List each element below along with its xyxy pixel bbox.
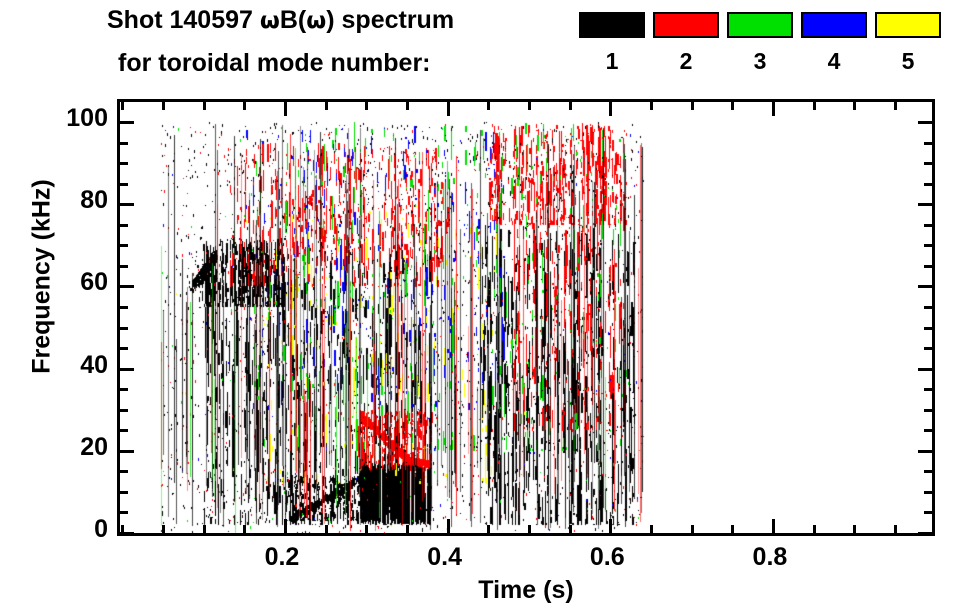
x-tick-top-0.65 <box>650 102 653 110</box>
x-tick-0.6 <box>609 519 612 533</box>
x-tick-0.9 <box>853 525 856 533</box>
x-tick-0 <box>121 525 124 533</box>
x-tick-0.95 <box>894 525 897 533</box>
x-tick-label-0.2: 0.2 <box>237 545 327 570</box>
x-tick-top-0.6 <box>609 102 612 116</box>
y-tick-85 <box>120 183 128 186</box>
x-tick-0.1 <box>203 525 206 533</box>
y-tick-70 <box>120 244 128 247</box>
y-tick-label-60: 60 <box>80 270 108 295</box>
x-tick-top-0.75 <box>731 102 734 110</box>
legend-swatch-1 <box>579 12 645 38</box>
legend-item-2: 2 <box>653 12 719 74</box>
title-b-text: B( <box>280 6 306 34</box>
x-tick-0.7 <box>691 525 694 533</box>
x-tick-top-0.8 <box>772 102 775 116</box>
legend-swatch-2 <box>653 12 719 38</box>
spectrogram-figure: Shot 140597 ωB(ω) spectrum for toroidal … <box>0 0 963 615</box>
x-tick-top-0.85 <box>813 102 816 110</box>
x-tick-0.25 <box>325 525 328 533</box>
y-tick-right-10 <box>924 491 932 494</box>
y-tick-label-0: 0 <box>94 517 108 542</box>
y-tick-right-100 <box>918 121 932 124</box>
y-tick-35 <box>120 388 128 391</box>
x-tick-top-0.7 <box>691 102 694 110</box>
x-tick-0.4 <box>447 519 450 533</box>
y-tick-55 <box>120 306 128 309</box>
y-tick-label-100: 100 <box>66 106 108 131</box>
x-tick-top-0.55 <box>569 102 572 110</box>
legend-label-3: 3 <box>727 48 793 74</box>
omega-symbol-2: ω <box>306 8 326 34</box>
y-tick-right-85 <box>924 183 932 186</box>
y-tick-15 <box>120 470 128 473</box>
x-tick-0.2 <box>284 519 287 533</box>
y-tick-right-35 <box>924 388 932 391</box>
x-tick-top-0.4 <box>447 102 450 116</box>
legend-item-4: 4 <box>801 12 867 74</box>
y-tick-right-40 <box>918 368 932 371</box>
x-tick-top-0.35 <box>406 102 409 110</box>
y-tick-10 <box>120 491 128 494</box>
mode-number-legend: 12345 <box>579 12 939 92</box>
y-tick-right-65 <box>924 265 932 268</box>
x-tick-label-0.4: 0.4 <box>400 545 490 570</box>
y-tick-45 <box>120 347 128 350</box>
x-tick-0.5 <box>528 525 531 533</box>
legend-label-4: 4 <box>801 48 867 74</box>
y-axis-title: Frequency (kHz) <box>28 127 57 427</box>
y-tick-80 <box>120 203 134 206</box>
y-tick-20 <box>120 450 134 453</box>
y-tick-65 <box>120 265 128 268</box>
figure-title-line-2: for toroidal mode number: <box>118 49 431 78</box>
legend-label-2: 2 <box>653 48 719 74</box>
x-tick-0.35 <box>406 525 409 533</box>
x-tick-top-0.5 <box>528 102 531 110</box>
y-tick-right-75 <box>924 224 932 227</box>
y-tick-30 <box>120 409 128 412</box>
y-tick-50 <box>120 327 128 330</box>
title-spectrum-text: ) spectrum <box>326 6 454 34</box>
y-tick-label-80: 80 <box>80 188 108 213</box>
x-tick-0.65 <box>650 525 653 533</box>
x-tick-0.75 <box>731 525 734 533</box>
y-tick-90 <box>120 162 128 165</box>
legend-label-1: 1 <box>579 48 645 74</box>
y-tick-60 <box>120 285 134 288</box>
x-tick-top-0.45 <box>487 102 490 110</box>
y-tick-right-70 <box>924 244 932 247</box>
x-tick-0.85 <box>813 525 816 533</box>
y-tick-right-60 <box>918 285 932 288</box>
figure-title-line-1: Shot 140597 ωB(ω) spectrum <box>107 6 454 35</box>
y-tick-right-45 <box>924 347 932 350</box>
y-tick-5 <box>120 511 128 514</box>
x-tick-0.8 <box>772 519 775 533</box>
y-tick-right-30 <box>924 409 932 412</box>
x-tick-top-0.1 <box>203 102 206 110</box>
legend-swatch-5 <box>875 12 941 38</box>
x-tick-0.55 <box>569 525 572 533</box>
y-tick-right-15 <box>924 470 932 473</box>
x-tick-top-0.9 <box>853 102 856 110</box>
y-tick-label-40: 40 <box>80 353 108 378</box>
x-tick-top-0.3 <box>365 102 368 110</box>
y-tick-right-95 <box>924 142 932 145</box>
x-tick-label-0.6: 0.6 <box>562 545 652 570</box>
y-tick-40 <box>120 368 134 371</box>
y-tick-right-80 <box>918 203 932 206</box>
title-shot-text: Shot 140597 <box>107 6 260 34</box>
legend-item-3: 3 <box>727 12 793 74</box>
y-tick-75 <box>120 224 128 227</box>
legend-swatch-3 <box>727 12 793 38</box>
x-tick-top-0.25 <box>325 102 328 110</box>
x-tick-0.3 <box>365 525 368 533</box>
x-axis-tick-labels: 0.20.40.60.8 <box>117 545 935 575</box>
x-axis-title: Time (s) <box>117 576 935 605</box>
y-tick-right-5 <box>924 511 932 514</box>
y-tick-right-90 <box>924 162 932 165</box>
x-tick-top-0.05 <box>162 102 165 110</box>
x-tick-top-0.95 <box>894 102 897 110</box>
legend-item-5: 5 <box>875 12 941 74</box>
y-tick-right-20 <box>918 450 932 453</box>
x-tick-label-0.8: 0.8 <box>725 545 815 570</box>
x-tick-0.15 <box>243 525 246 533</box>
legend-item-1: 1 <box>579 12 645 74</box>
plot-area <box>117 99 935 536</box>
x-tick-top-0.2 <box>284 102 287 116</box>
y-tick-right-55 <box>924 306 932 309</box>
y-tick-25 <box>120 429 128 432</box>
x-tick-top-0 <box>121 102 124 110</box>
y-tick-right-50 <box>924 327 932 330</box>
legend-label-5: 5 <box>875 48 941 74</box>
x-tick-top-0.15 <box>243 102 246 110</box>
legend-swatch-4 <box>801 12 867 38</box>
y-tick-right-25 <box>924 429 932 432</box>
x-tick-0.05 <box>162 525 165 533</box>
y-tick-100 <box>120 121 134 124</box>
x-tick-0.45 <box>487 525 490 533</box>
y-tick-label-20: 20 <box>80 435 108 460</box>
y-tick-right-0 <box>918 532 932 535</box>
omega-symbol-1: ω <box>260 8 280 34</box>
y-tick-95 <box>120 142 128 145</box>
spectrogram-image <box>120 102 932 533</box>
